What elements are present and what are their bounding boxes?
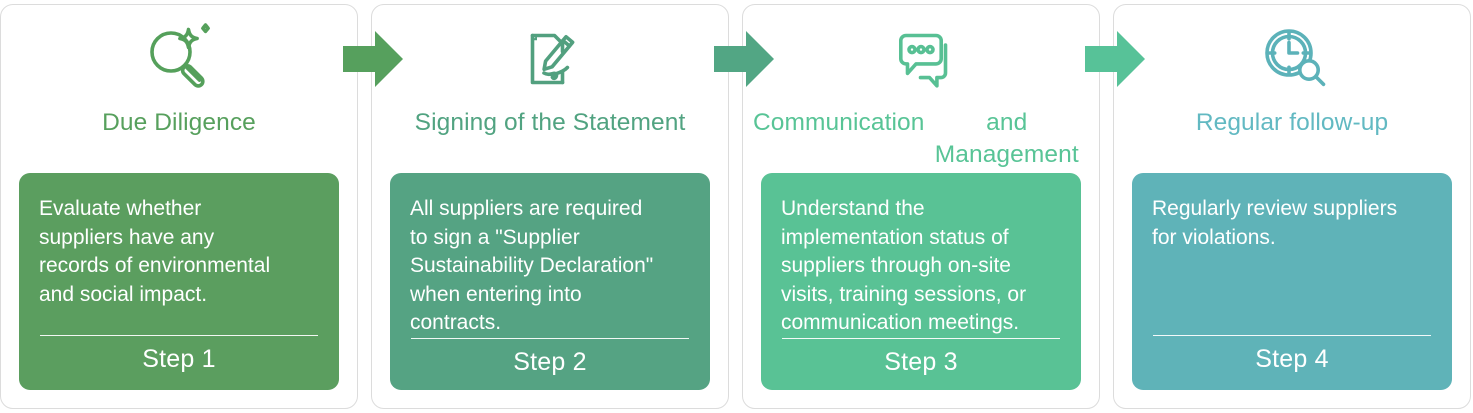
magnifier-sparkle-icon <box>140 11 218 107</box>
panel-divider-2 <box>411 338 689 339</box>
step-body-2: All suppliers are required to sign a "Su… <box>410 195 690 338</box>
chat-bubbles-dots-icon <box>882 11 960 107</box>
process-flow-diagram: Due Diligence Evaluate whether suppliers… <box>0 0 1473 413</box>
panel-divider-3 <box>782 338 1060 339</box>
card-gap-1 <box>358 0 371 413</box>
step-title-3: Communication and Management <box>743 107 1099 171</box>
step-card-4[interactable]: Regular follow-up Regularly review suppl… <box>1113 4 1471 409</box>
step-title-2: Signing of the Statement <box>405 107 696 171</box>
step-card-2[interactable]: Signing of the Statement All suppliers a… <box>371 4 729 409</box>
step-panel-2: All suppliers are required to sign a "Su… <box>390 173 710 390</box>
step-panel-4: Regularly review suppliers for violation… <box>1132 173 1452 390</box>
step-panel-3: Understand the implementation status of … <box>761 173 1081 390</box>
step-label-4: Step 4 <box>1152 342 1432 376</box>
step-panel-1: Evaluate whether suppliers have any reco… <box>19 173 339 390</box>
panel-divider-4 <box>1153 335 1431 336</box>
step-title-1: Due Diligence <box>92 107 266 171</box>
step-title-3-line-1: Communication <box>753 107 925 139</box>
card-gap-2 <box>729 0 742 413</box>
step-body-1: Evaluate whether suppliers have any reco… <box>39 195 319 335</box>
step-body-3: Understand the implementation status of … <box>781 195 1061 338</box>
step-title-4: Regular follow-up <box>1186 107 1398 171</box>
step-card-3[interactable]: Communication and Management Understand … <box>742 4 1100 409</box>
step-title-2-line-1: Signing of the Statement <box>415 107 686 139</box>
step-title-4-line-1: Regular follow-up <box>1196 107 1388 139</box>
panel-divider-1 <box>40 335 318 336</box>
step-label-3: Step 3 <box>781 345 1061 379</box>
document-pen-signature-icon <box>511 11 589 107</box>
step-title-1-line-1: Due Diligence <box>102 107 256 139</box>
step-label-2: Step 2 <box>410 345 690 379</box>
step-title-3-line-2: and Management <box>925 107 1089 171</box>
step-card-1[interactable]: Due Diligence Evaluate whether suppliers… <box>0 4 358 409</box>
clock-magnifier-icon <box>1253 11 1331 107</box>
step-label-1: Step 1 <box>39 342 319 376</box>
step-body-4: Regularly review suppliers for violation… <box>1152 195 1432 335</box>
card-gap-3 <box>1100 0 1113 413</box>
